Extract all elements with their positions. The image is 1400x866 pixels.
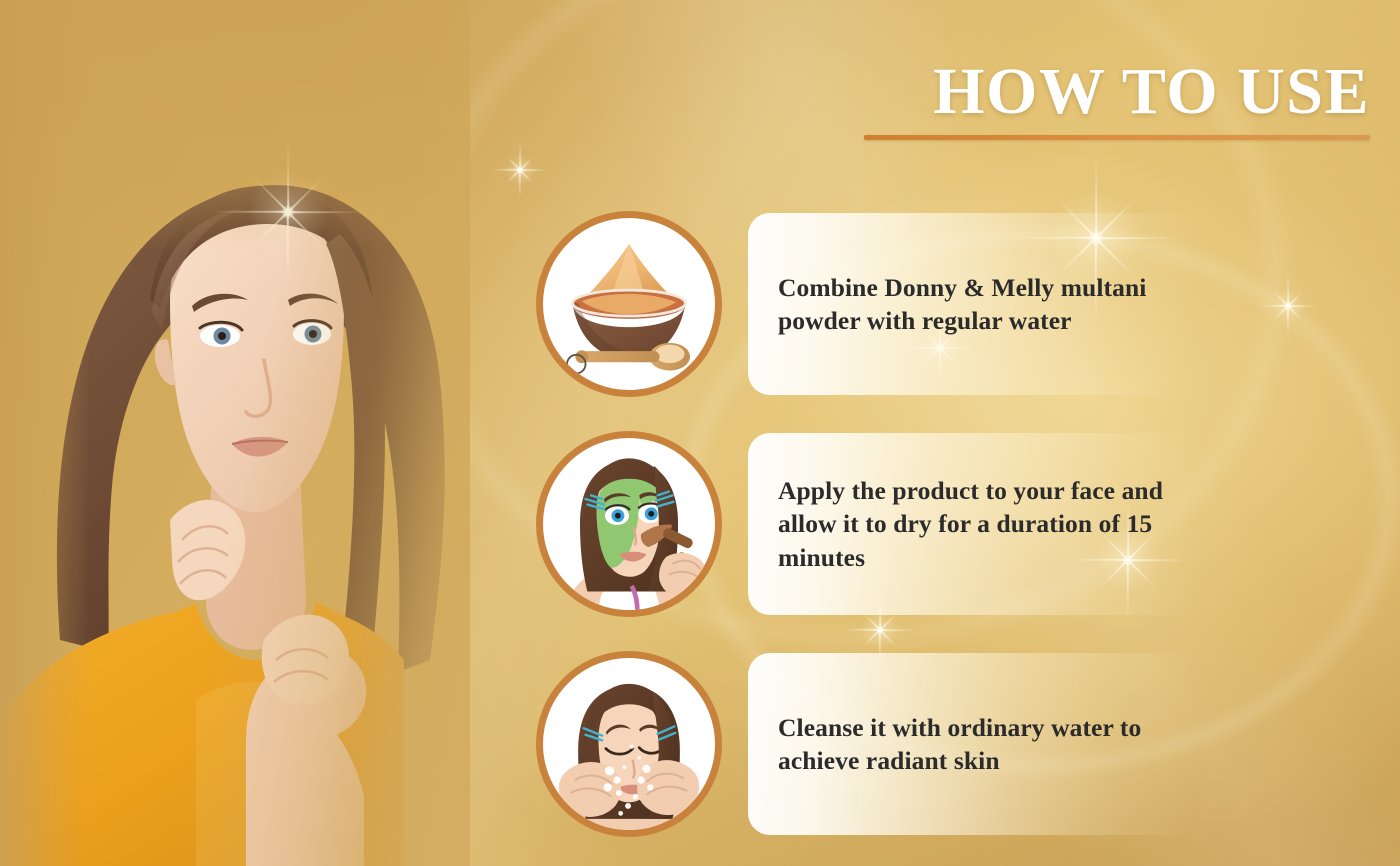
step-text: Cleanse it with ordinary water to achiev…	[748, 711, 1236, 777]
hero-photo	[0, 0, 470, 866]
step-item: Apply the product to your face and allow…	[536, 429, 1236, 619]
step-item: Cleanse it with ordinary water to achiev…	[536, 649, 1236, 839]
photo-fade-right	[0, 0, 470, 866]
face-mask-application-icon	[536, 431, 722, 617]
page-title: HOW TO USE	[760, 58, 1370, 140]
how-to-use-banner: HOW TO USE	[0, 0, 1400, 866]
step-text: Combine Donny & Melly multani powder wit…	[748, 271, 1236, 337]
title-underline	[864, 135, 1370, 140]
step-card: Combine Donny & Melly multani powder wit…	[748, 213, 1236, 395]
powder-bowl-glyph	[543, 218, 715, 390]
step-text: Apply the product to your face and allow…	[748, 474, 1236, 573]
step-item: Combine Donny & Melly multani powder wit…	[536, 209, 1236, 399]
powder-bowl-icon	[536, 211, 722, 397]
step-card: Cleanse it with ordinary water to achiev…	[748, 653, 1236, 835]
face-mask-application-glyph	[543, 438, 715, 610]
step-card: Apply the product to your face and allow…	[748, 433, 1236, 615]
face-washing-icon	[536, 651, 722, 837]
page-title-text: HOW TO USE	[760, 58, 1370, 125]
face-washing-glyph	[543, 658, 715, 830]
